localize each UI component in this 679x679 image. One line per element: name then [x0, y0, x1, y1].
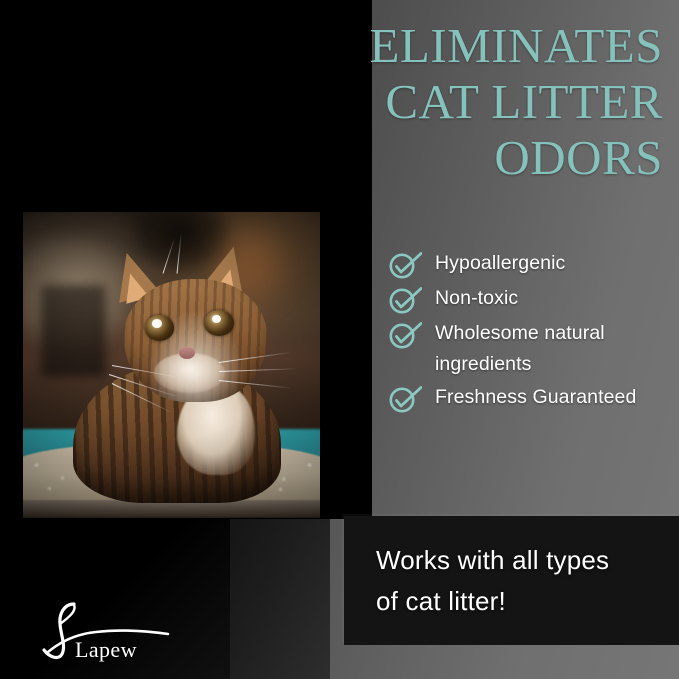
logo-wordmark: Lapew: [75, 637, 137, 663]
check-circle-icon: [388, 319, 422, 349]
check-circle-icon: [388, 383, 422, 413]
headline-line-1: ELIMINATES: [243, 18, 663, 74]
benefit-item: Freshness Guaranteed: [388, 382, 670, 415]
benefit-label: Wholesome natural ingredients: [435, 318, 670, 380]
headline-line-3: ODORS: [243, 130, 663, 186]
kitten-photo: [23, 212, 320, 518]
advertisement-canvas: ELIMINATES CAT LITTER ODORS Hypoallergen…: [0, 0, 679, 679]
benefit-item: Non-toxic: [388, 283, 670, 316]
headline: ELIMINATES CAT LITTER ODORS: [243, 18, 663, 186]
kitten-whiskers: [23, 212, 320, 518]
callout-text: Works with all types of cat litter!: [376, 540, 665, 622]
check-circle-icon: [388, 284, 422, 314]
benefit-label: Non-toxic: [435, 283, 518, 314]
benefit-label: Hypoallergenic: [435, 248, 565, 279]
kitten-figure: [23, 212, 320, 518]
callout-box: Works with all types of cat litter!: [344, 516, 679, 645]
callout-line-1: Works with all types: [376, 540, 665, 581]
check-circle-icon: [388, 249, 422, 279]
benefit-label: Freshness Guaranteed: [435, 382, 636, 413]
photo-background: [23, 212, 320, 518]
callout-line-2: of cat litter!: [376, 581, 665, 622]
benefit-item: Wholesome natural ingredients: [388, 318, 670, 380]
benefit-item: Hypoallergenic: [388, 248, 670, 281]
benefits-list: Hypoallergenic Non-toxic Wholesome natur…: [388, 248, 670, 417]
headline-line-2: CAT LITTER: [243, 74, 663, 130]
brand-logo: Lapew: [28, 598, 218, 664]
